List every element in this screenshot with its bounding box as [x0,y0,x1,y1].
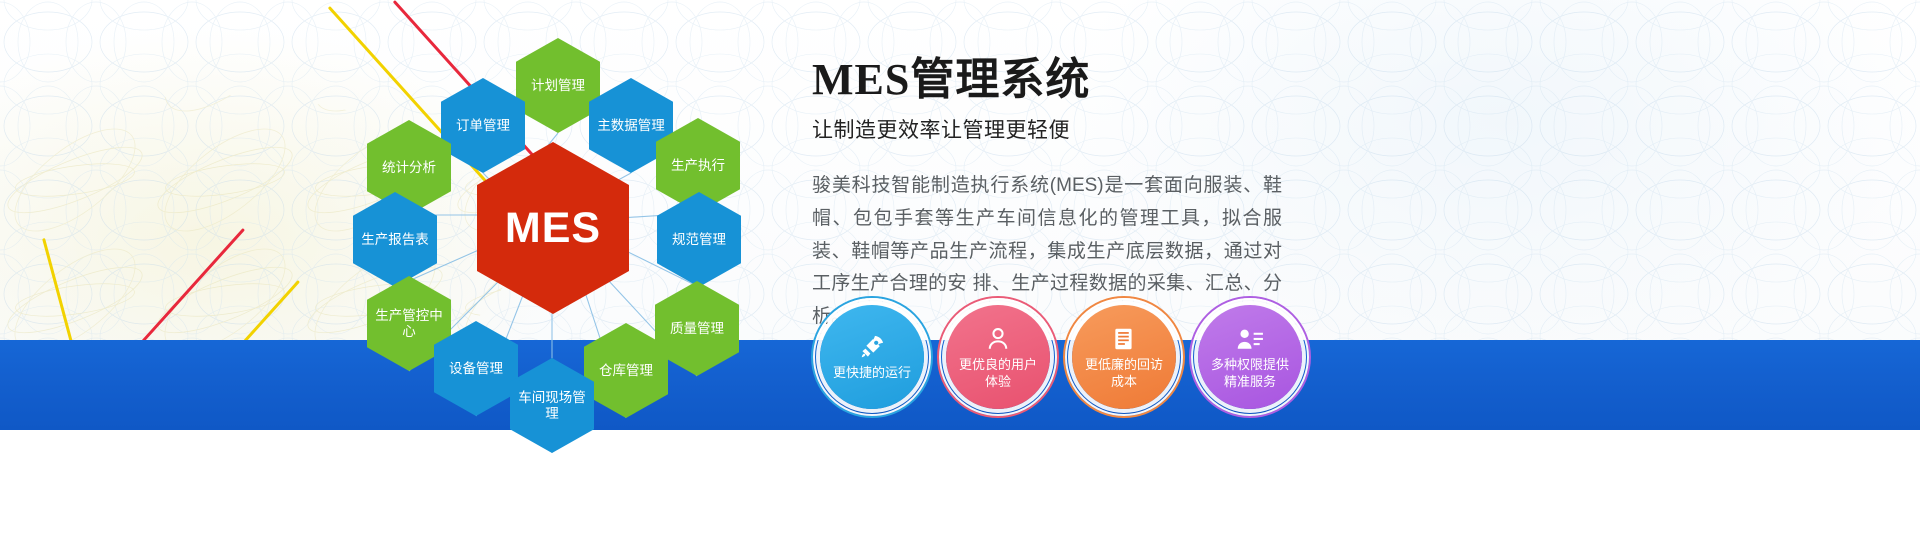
hex-label-10: 仓库管理 [595,363,657,379]
mes-hexagon-diagram: MES 计划管理 订单管理 主数据管理 统计分析 生产执行 生产报告表 规范管理… [0,0,820,470]
feature-badge-0[interactable]: 更快捷的运行 [820,305,924,409]
rocket-icon [857,332,887,362]
hex-label-5: 生产报告表 [357,232,433,248]
badge-ring-0 [813,298,931,416]
hex-label-6: 规范管理 [668,232,730,248]
badge-label-0: 更快捷的运行 [824,365,920,381]
badge-ring-1 [939,298,1057,416]
hex-label-7: 生产管控中心 [367,308,451,340]
badge-label-2: 更低廉的回访成本 [1072,357,1176,390]
hex-node-1[interactable]: 订单管理 [441,78,525,173]
page-subtitle: 让制造更效率让管理更轻便 [812,114,1812,144]
hex-label-9: 设备管理 [445,361,507,377]
hex-label-11: 车间现场管理 [510,390,594,422]
hex-label-2: 主数据管理 [593,118,669,134]
hex-node-0[interactable]: 计划管理 [516,38,600,133]
badge-label-1: 更优良的用户体验 [946,357,1050,390]
user-list-icon [1235,324,1265,354]
banner-root: MES 计划管理 订单管理 主数据管理 统计分析 生产执行 生产报告表 规范管理… [0,0,1920,550]
hex-label-4: 生产执行 [667,158,729,174]
badge-label-3: 多种权限提供精准服务 [1198,357,1302,390]
hex-node-6[interactable]: 规范管理 [657,192,741,287]
document-icon [1109,324,1139,354]
feature-badge-3[interactable]: 多种权限提供精准服务 [1198,305,1302,409]
hex-label-center: MES [501,203,605,254]
banner-text-block: MES管理系统 让制造更效率让管理更轻便 骏美科技智能制造执行系统(MES)是一… [812,56,1812,334]
badge-ring-3 [1191,298,1309,416]
feature-badge-list: 更快捷的运行 更优良的用户体验 [820,305,1302,409]
hex-label-0: 计划管理 [527,78,589,94]
hex-label-8: 质量管理 [666,321,728,337]
hex-node-center[interactable]: MES [477,142,629,314]
feature-badge-2[interactable]: 更低廉的回访成本 [1072,305,1176,409]
user-icon [983,324,1013,354]
page-title: MES管理系统 [812,56,1812,104]
hex-label-3: 统计分析 [378,160,440,176]
feature-badge-1[interactable]: 更优良的用户体验 [946,305,1050,409]
hex-label-1: 订单管理 [452,118,514,134]
hex-node-11[interactable]: 车间现场管理 [510,358,594,453]
badge-ring-2 [1065,298,1183,416]
